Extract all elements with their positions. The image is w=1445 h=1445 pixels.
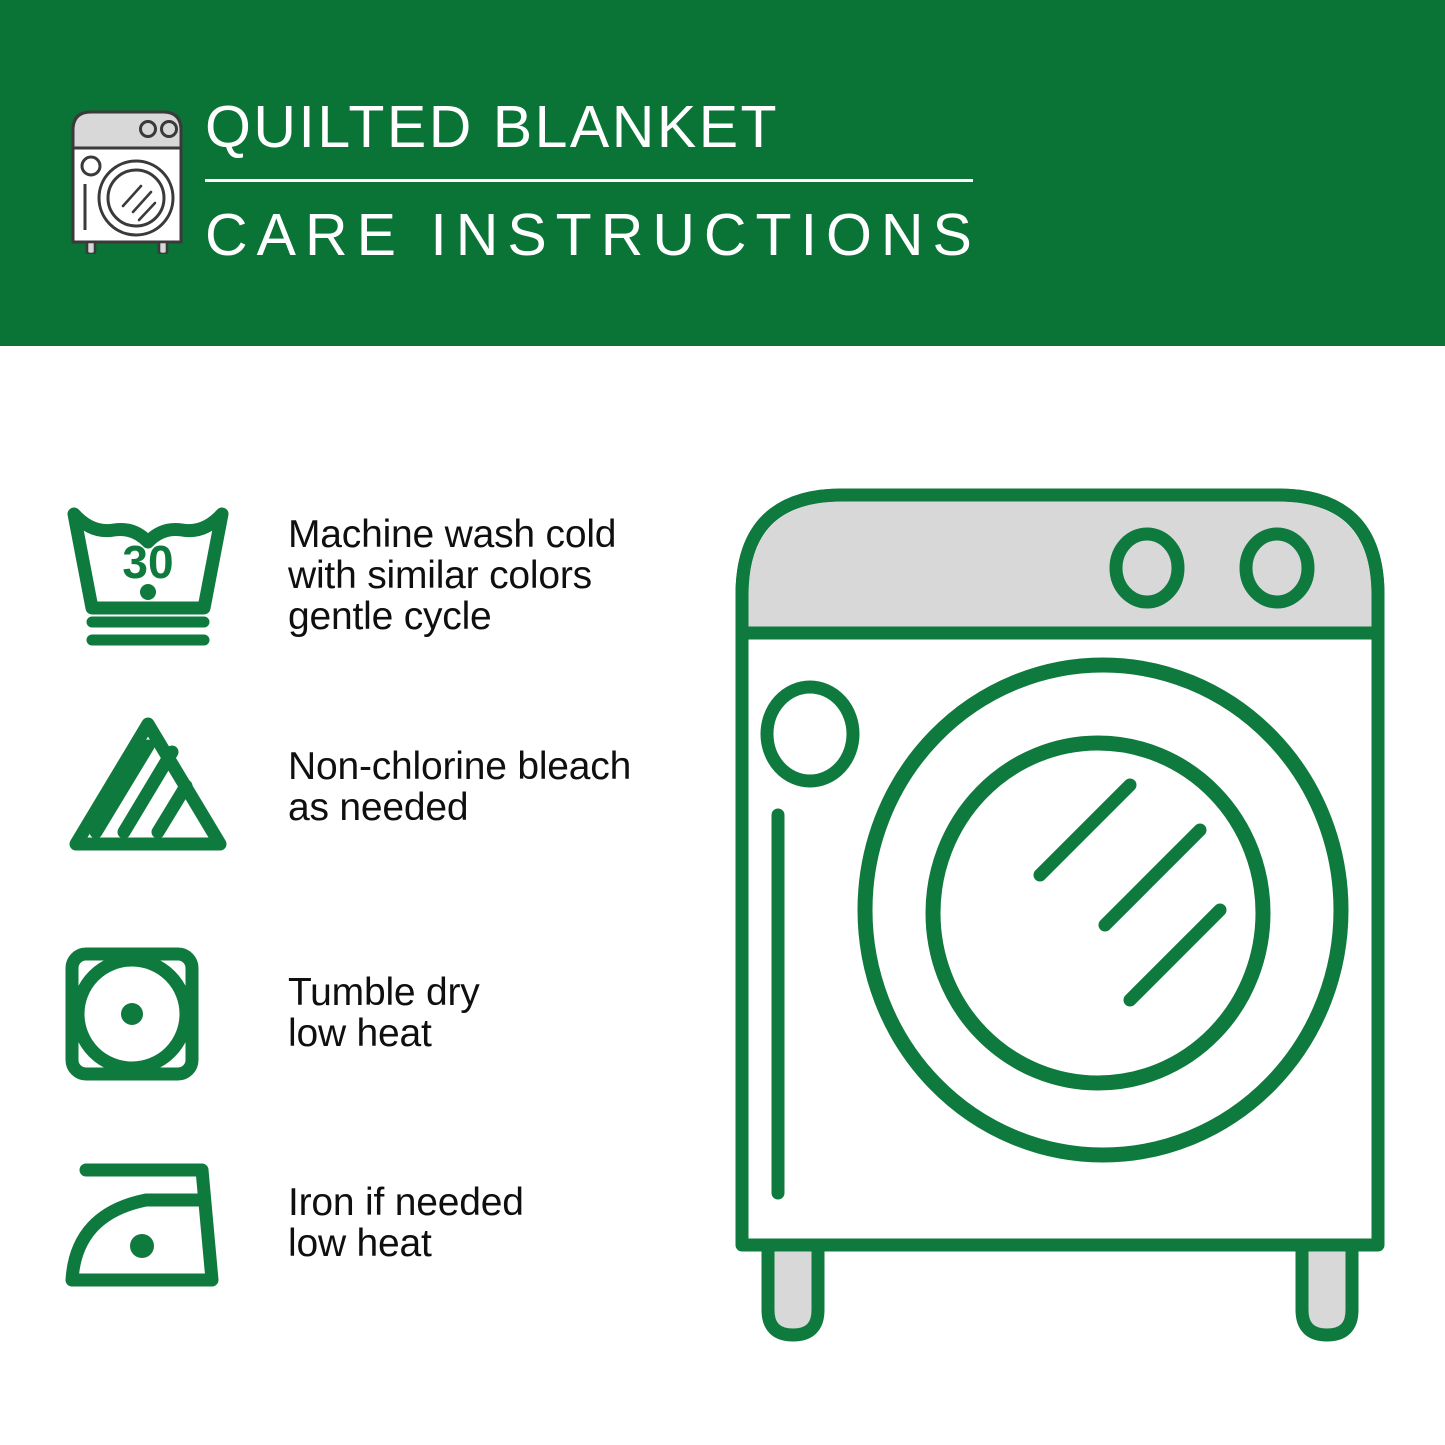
title-divider <box>205 179 973 182</box>
non-chlorine-bleach-triangle-icon <box>62 716 234 861</box>
care-row-bleach-text: Non-chlorine bleach as needed <box>288 746 631 828</box>
page-subtitle: CARE INSTRUCTIONS <box>205 206 995 265</box>
tumble-dry-low-heat-icon <box>62 944 202 1089</box>
washing-machine-icon <box>63 102 191 254</box>
iron-low-heat-icon <box>62 1152 242 1297</box>
care-row-iron: Iron if needed low heat <box>0 1152 700 1292</box>
care-row-wash-text: Machine wash cold with similar colors ge… <box>288 514 616 637</box>
care-row-dry-text: Tumble dry low heat <box>288 972 480 1054</box>
page-title: QUILTED BLANKET <box>205 98 995 157</box>
care-instructions-page: QUILTED BLANKET CARE INSTRUCTIONS 30 <box>0 0 1445 1445</box>
header-banner: QUILTED BLANKET CARE INSTRUCTIONS <box>0 0 1445 346</box>
wash-tub-30-gentle-icon: 30 <box>62 500 234 657</box>
care-row-dry: Tumble dry low heat <box>0 944 700 1084</box>
front-load-washing-machine-illustration <box>700 455 1420 1375</box>
care-symbol-list: 30 Machine wash cold with similar colors… <box>0 346 700 1445</box>
wash-temperature-label: 30 <box>122 536 173 588</box>
header-text-block: QUILTED BLANKET CARE INSTRUCTIONS <box>205 98 995 265</box>
care-row-bleach: Non-chlorine bleach as needed <box>0 716 700 866</box>
care-row-wash: 30 Machine wash cold with similar colors… <box>0 500 700 670</box>
care-row-iron-text: Iron if needed low heat <box>288 1182 524 1264</box>
